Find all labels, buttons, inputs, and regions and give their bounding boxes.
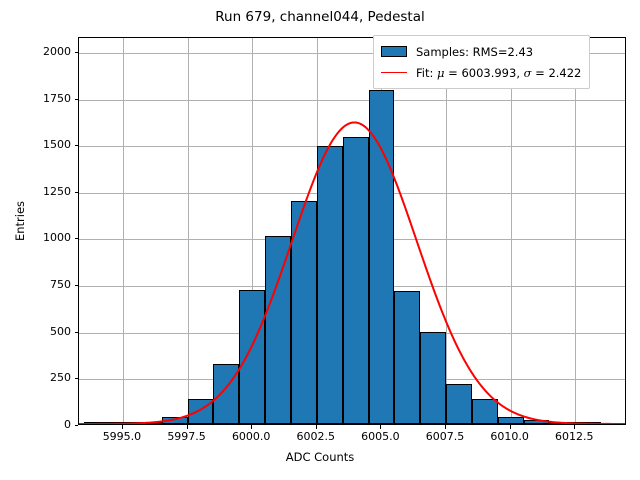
y-tick-mark xyxy=(75,145,79,146)
x-tick-mark xyxy=(380,425,381,429)
legend-label-samples: Samples: RMS=2.43 xyxy=(416,45,533,59)
y-tick-label: 1000 xyxy=(25,231,71,244)
x-tick-mark xyxy=(510,425,511,429)
legend-entry-fit: Fit: μ = 6003.993, σ = 2.422 xyxy=(381,62,581,83)
y-tick-label: 500 xyxy=(25,325,71,338)
x-tick-label: 5997.5 xyxy=(152,430,222,443)
x-tick-mark xyxy=(122,425,123,429)
x-tick-mark xyxy=(187,425,188,429)
x-tick-label: 5995.0 xyxy=(87,430,157,443)
y-tick-mark xyxy=(75,378,79,379)
y-tick-mark xyxy=(75,425,79,426)
chart-title: Run 679, channel044, Pedestal xyxy=(0,9,640,25)
x-tick-label: 6000.0 xyxy=(216,430,286,443)
y-tick-label: 0 xyxy=(25,418,71,431)
y-tick-label: 750 xyxy=(25,278,71,291)
y-tick-mark xyxy=(75,238,79,239)
x-axis-label: ADC Counts xyxy=(0,450,640,464)
legend-line-icon xyxy=(381,72,407,73)
x-tick-label: 6005.0 xyxy=(345,430,415,443)
x-tick-label: 6012.5 xyxy=(539,430,609,443)
y-tick-label: 1500 xyxy=(25,138,71,151)
plot-area xyxy=(78,37,626,425)
fit-sigma-text: = 2.422 xyxy=(532,66,582,80)
mu-symbol: μ xyxy=(437,66,444,80)
y-tick-label: 1250 xyxy=(25,185,71,198)
y-tick-mark xyxy=(75,52,79,53)
y-tick-mark xyxy=(75,332,79,333)
x-tick-label: 6002.5 xyxy=(281,430,351,443)
legend-entry-samples: Samples: RMS=2.43 xyxy=(381,41,581,62)
gaussian-fit-curve xyxy=(79,38,625,424)
legend: Samples: RMS=2.43 Fit: μ = 6003.993, σ =… xyxy=(373,35,590,89)
y-tick-label: 1750 xyxy=(25,92,71,105)
y-tick-mark xyxy=(75,192,79,193)
x-tick-mark xyxy=(445,425,446,429)
y-tick-label: 2000 xyxy=(25,45,71,58)
figure: Run 679, channel044, Pedestal 5995.05997… xyxy=(0,0,640,480)
sigma-symbol: σ xyxy=(524,66,532,80)
legend-label-fit: Fit: μ = 6003.993, σ = 2.422 xyxy=(416,66,581,80)
y-tick-mark xyxy=(75,285,79,286)
x-tick-mark xyxy=(574,425,575,429)
y-tick-label: 250 xyxy=(25,371,71,384)
fit-mu-text: = 6003.993, xyxy=(445,66,524,80)
y-tick-mark xyxy=(75,99,79,100)
y-axis-label: Entries xyxy=(13,121,27,321)
fit-prefix: Fit: xyxy=(416,66,437,80)
x-tick-mark xyxy=(316,425,317,429)
x-tick-mark xyxy=(251,425,252,429)
x-tick-label: 6010.0 xyxy=(475,430,545,443)
x-tick-label: 6007.5 xyxy=(410,430,480,443)
legend-swatch-icon xyxy=(381,46,407,57)
